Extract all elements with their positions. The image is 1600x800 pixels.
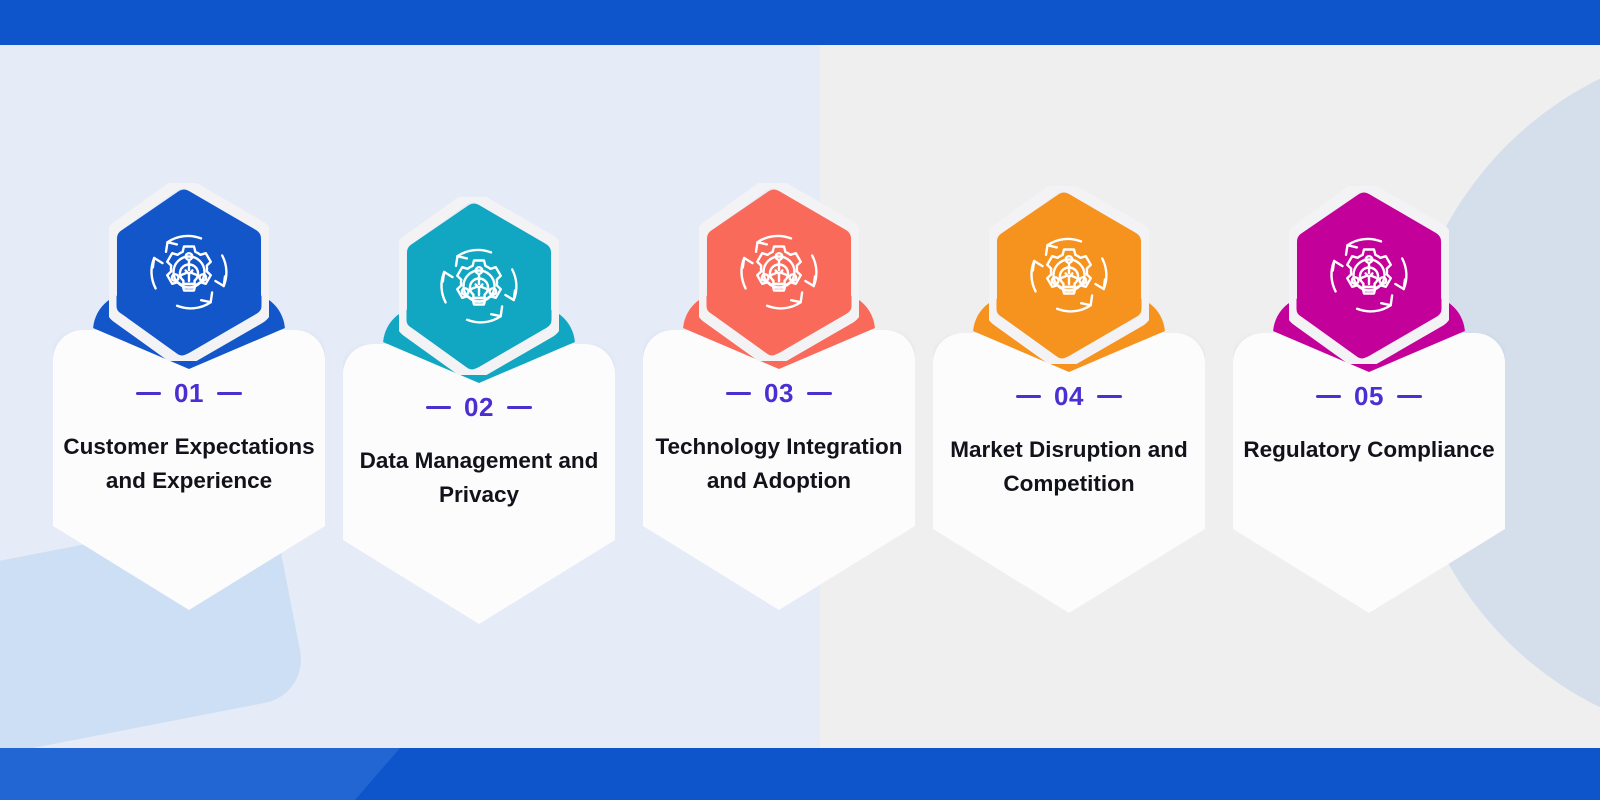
dash-right-icon [507,406,532,409]
gear-lightbulb-innovation-icon [109,183,269,361]
dash-left-icon [426,406,451,409]
card-badge [643,183,915,383]
dash-left-icon [136,392,161,395]
card-number-row: 03 [643,380,915,406]
card-number-row: 04 [933,383,1205,409]
card-title: Technology Integration and Adoption [651,430,907,498]
dash-right-icon [807,392,832,395]
card-badge [1233,186,1505,386]
dash-left-icon [1016,395,1041,398]
card-number-row: 02 [343,394,615,420]
card-number: 05 [1354,383,1384,409]
card-title: Customer Expectations and Experience [61,430,317,498]
card-number-row: 05 [1233,383,1505,409]
dash-right-icon [1097,395,1122,398]
card-badge [343,197,615,397]
gear-lightbulb-innovation-icon [989,186,1149,364]
card-badge [53,183,325,383]
gear-lightbulb-innovation-icon [1289,186,1449,364]
gear-lightbulb-innovation-icon [699,183,859,361]
card-number: 01 [174,380,204,406]
card-title: Regulatory Compliance [1241,433,1497,467]
dash-right-icon [1397,395,1422,398]
dash-left-icon [1316,395,1341,398]
card-number: 04 [1054,383,1084,409]
card-title: Market Disruption and Competition [941,433,1197,501]
card-number: 03 [764,380,794,406]
card-number-row: 01 [53,380,325,406]
dash-right-icon [217,392,242,395]
card-badge [933,186,1205,386]
infographic-stage: 01 Customer Expectations and Experience [0,0,1600,800]
cards-row: 01 Customer Expectations and Experience [0,0,1600,800]
dash-left-icon [726,392,751,395]
gear-lightbulb-innovation-icon [399,197,559,375]
card-title: Data Management and Privacy [351,444,607,512]
card-number: 02 [464,394,494,420]
